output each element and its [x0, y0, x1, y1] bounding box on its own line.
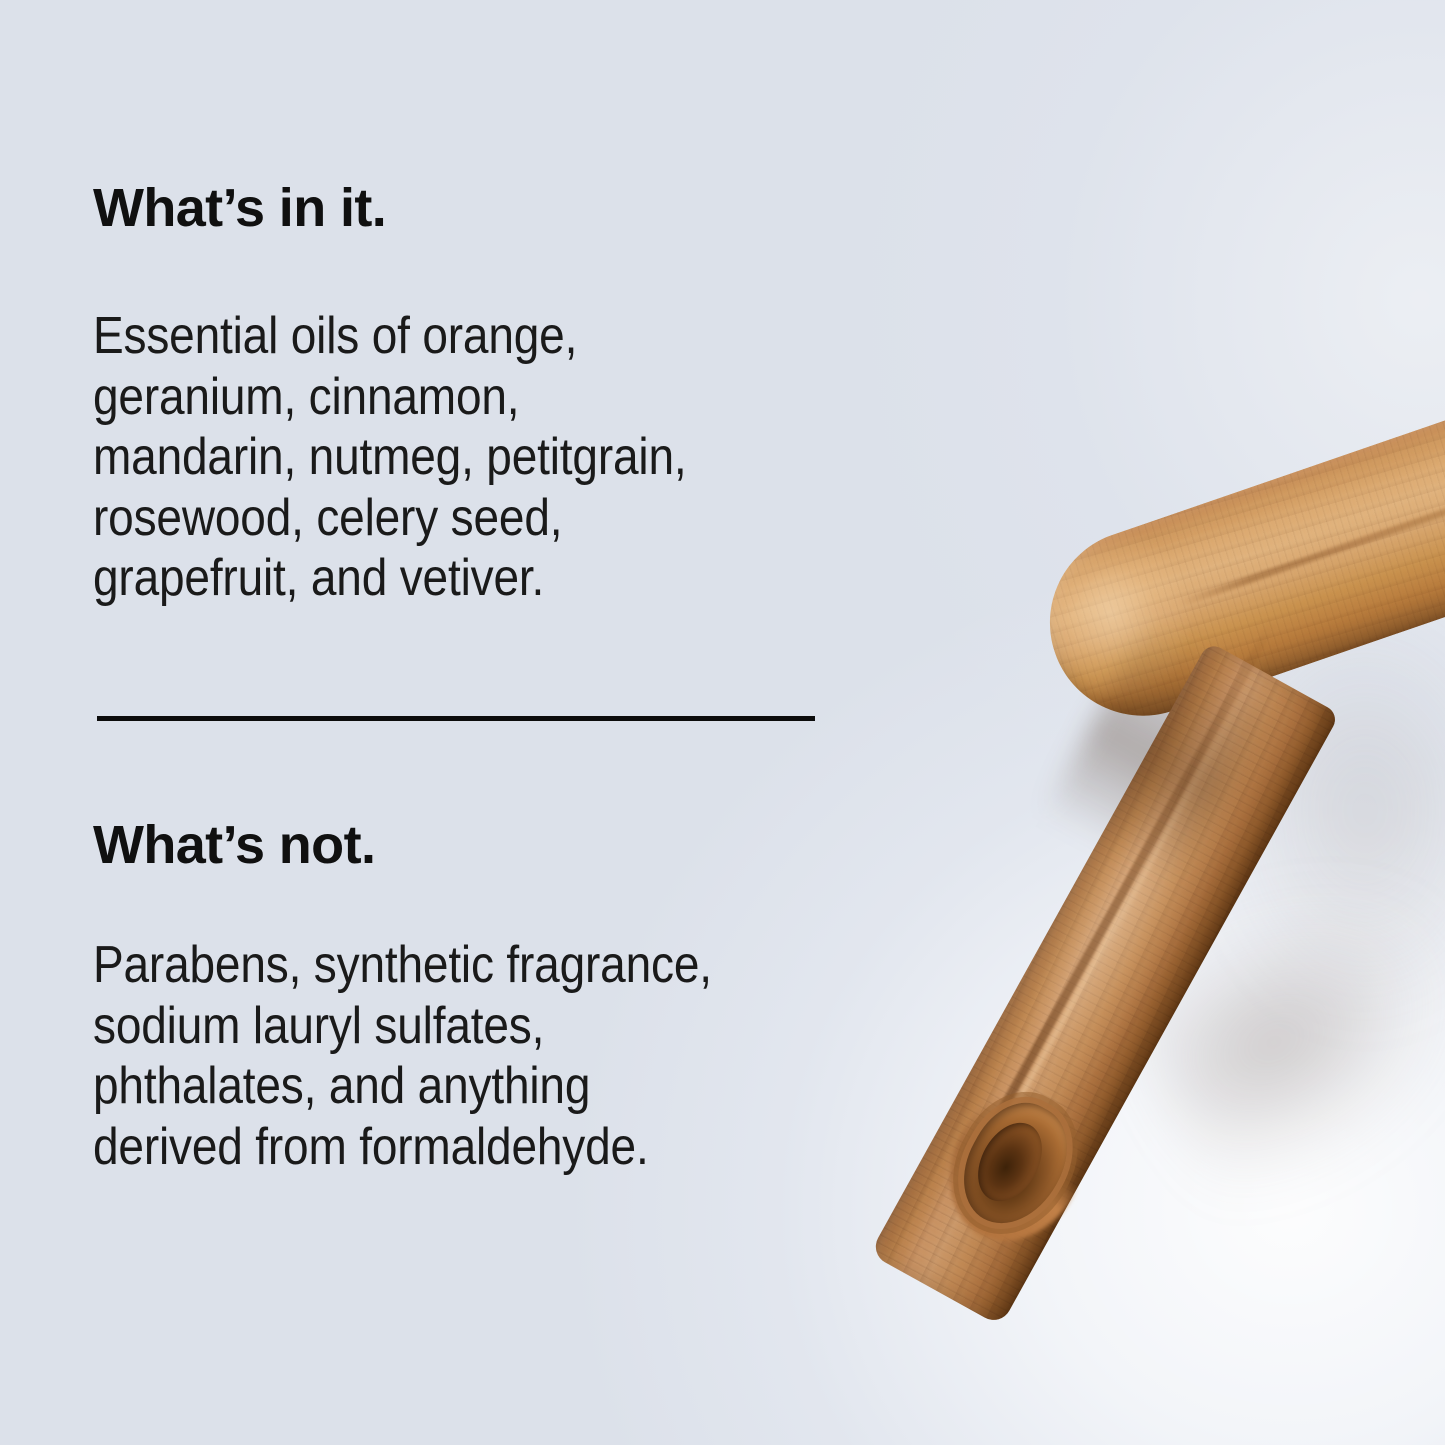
- stick-shadow-upper: [1215, 600, 1445, 1020]
- paragraph-whats-not: Parabens, synthetic fragrance, sodium la…: [93, 935, 712, 1177]
- text-content: What’s in it. Essential oils of orange, …: [93, 0, 1013, 1445]
- cinnamon-stick-back: [1025, 357, 1445, 741]
- stick-crossing-shadow: [1042, 614, 1285, 888]
- heading-whats-in-it: What’s in it.: [93, 181, 386, 236]
- paragraph-whats-in-it: Essential oils of orange, geranium, cinn…: [93, 306, 686, 609]
- heading-whats-not: What’s not.: [93, 818, 375, 873]
- section-divider: [97, 716, 815, 721]
- stick-shadow-lower: [1105, 792, 1445, 1227]
- product-ingredients-card: What’s in it. Essential oils of orange, …: [0, 0, 1445, 1445]
- cinnamon-stick-back-seam: [1179, 431, 1445, 607]
